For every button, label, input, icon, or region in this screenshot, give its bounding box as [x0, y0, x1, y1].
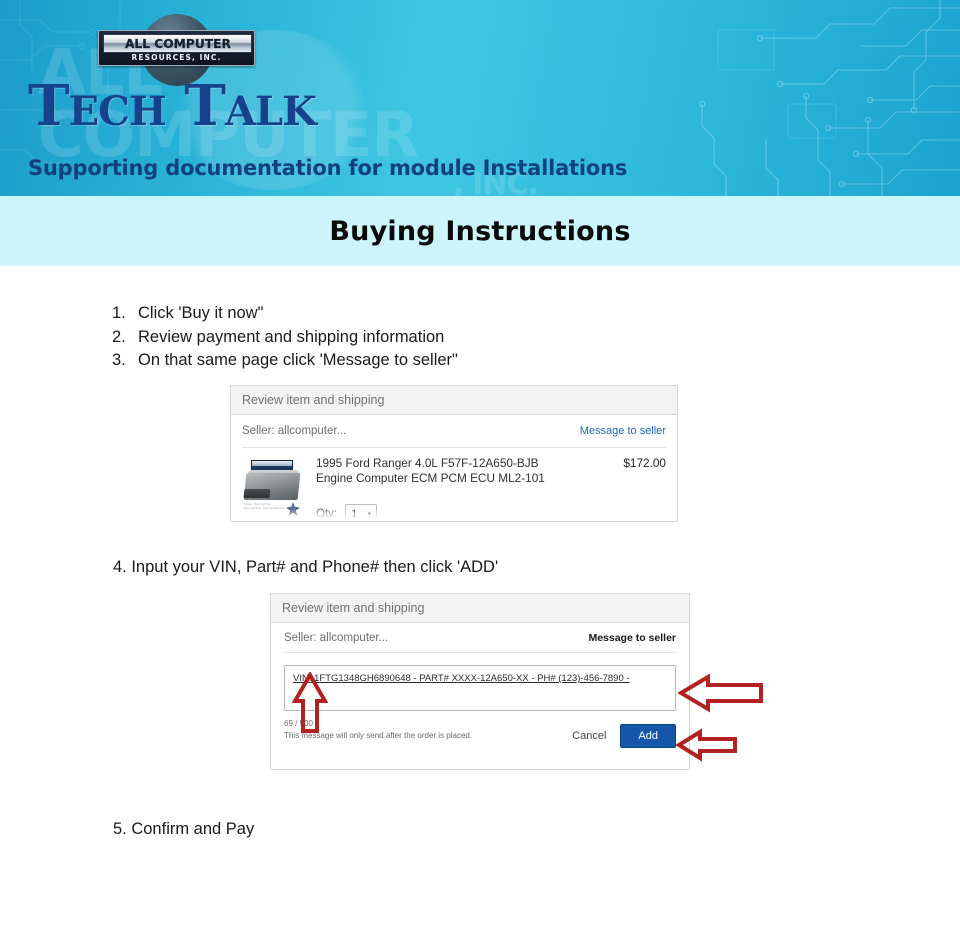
list-item-label: Click 'Buy it now" — [138, 304, 263, 322]
annotation-arrow-message-input-icon — [292, 672, 328, 734]
message-to-seller-link[interactable]: Message to seller — [580, 425, 666, 437]
annotation-arrow-add-button-icon — [676, 728, 738, 762]
logo-plate: ALL COMPUTER RESOURCES, INC. — [98, 30, 255, 66]
screenshot-review-item-panel: Review item and shipping Seller: allcomp… — [230, 385, 678, 522]
banner-title-alk: ALK — [225, 88, 316, 135]
banner-title: TECH TALK — [28, 78, 316, 134]
screenshot-message-panel: Review item and shipping Seller: allcomp… — [270, 593, 690, 770]
message-meta-row: 69 / 500 This message will only send aft… — [284, 718, 676, 748]
add-button[interactable]: Add — [620, 724, 676, 748]
panel1-header: Review item and shipping — [230, 385, 678, 414]
page-title-band: Buying Instructions — [0, 196, 960, 266]
banner-subtitle: Supporting documentation for module Inst… — [28, 156, 627, 180]
list-item-number: 2. — [112, 326, 138, 350]
list-item: 2.Review payment and shipping informatio… — [112, 326, 458, 350]
page-content: 1.Click 'Buy it now" 2.Review payment an… — [0, 266, 960, 946]
message-textarea-value: VIN: 1FTG1348GH6890648 - PART# XXXX-12A6… — [293, 673, 630, 684]
step-4-text: 4. Input your VIN, Part# and Phone# then… — [113, 558, 498, 577]
list-item-number: 3. — [112, 349, 138, 373]
panel1-seller-row: Seller: allcomputer... Message to seller — [242, 415, 666, 448]
panel1-bottom-fade — [231, 509, 678, 521]
company-logo: ALL COMPUTER RESOURCES, INC. — [98, 30, 253, 64]
logo-text-primary: ALL COMPUTER — [125, 37, 231, 51]
page-banner: ALL COMPUTER , INC. — [0, 0, 960, 196]
banner-title-t2: T — [184, 73, 225, 139]
seller-label: Seller: allcomputer... — [242, 425, 346, 437]
annotation-arrow-message-to-seller-icon — [678, 672, 764, 714]
list-item-label: On that same page click 'Message to sell… — [138, 351, 458, 369]
message-actions: Cancel Add — [572, 718, 676, 748]
logo-bottom-band: RESOURCES, INC. — [103, 52, 250, 62]
banner-title-t1: T — [28, 73, 69, 139]
panel2-seller-row: Seller: allcomputer... Message to seller — [284, 623, 676, 653]
cancel-button[interactable]: Cancel — [572, 730, 606, 742]
step-5-text: 5. Confirm and Pay — [113, 820, 254, 839]
list-item-number: 1. — [112, 302, 138, 326]
list-item: 3.On that same page click 'Message to se… — [112, 349, 458, 373]
message-to-seller-label[interactable]: Message to seller — [588, 632, 676, 644]
thumbnail-ecu-connector — [244, 489, 271, 498]
logo-top-band: ALL COMPUTER — [103, 34, 252, 53]
list-item: 1.Click 'Buy it now" — [112, 302, 458, 326]
panel1-card: Seller: allcomputer... Message to seller… — [230, 414, 678, 522]
panel2-bottom-fade — [271, 755, 690, 769]
item-title-line1[interactable]: 1995 Ford Ranger 4.0L F57F-12A650-BJB — [316, 456, 615, 471]
message-compose-area: VIN: 1FTG1348GH6890648 - PART# XXXX-12A6… — [284, 653, 676, 748]
panel2-header: Review item and shipping — [270, 593, 690, 622]
panel2-card: Seller: allcomputer... Message to seller… — [270, 622, 690, 770]
list-item-label: Review payment and shipping information — [138, 328, 444, 346]
seller-label: Seller: allcomputer... — [284, 632, 388, 644]
message-textarea[interactable]: VIN: 1FTG1348GH6890648 - PART# XXXX-12A6… — [284, 665, 676, 711]
instruction-list: 1.Click 'Buy it now" 2.Review payment an… — [112, 302, 458, 373]
page-title: Buying Instructions — [329, 216, 630, 247]
item-title-line2[interactable]: Engine Computer ECM PCM ECU ML2-101 — [316, 471, 615, 486]
banner-title-ech: ECH — [69, 88, 166, 135]
logo-text-secondary: RESOURCES, INC. — [132, 53, 222, 62]
